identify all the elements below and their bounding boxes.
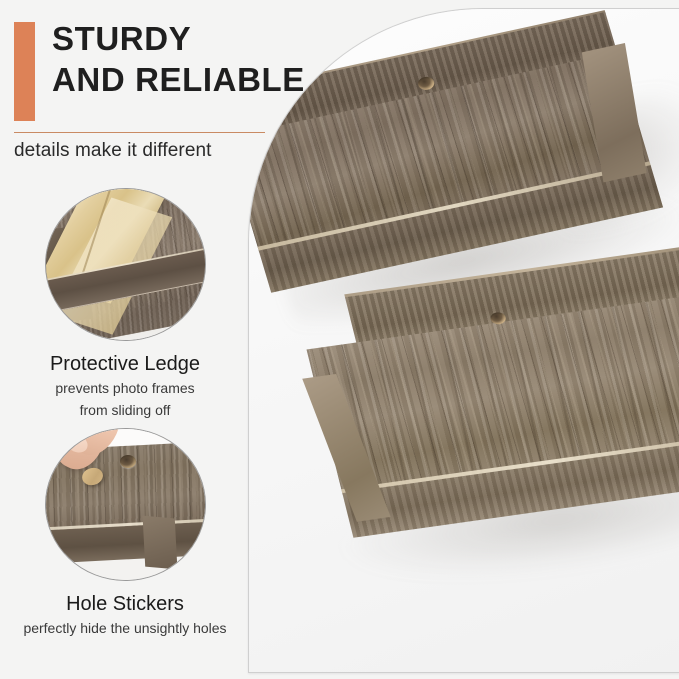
infographic-canvas: STURDY AND RELIABLE details make it diff… xyxy=(0,0,679,679)
feature-protective-ledge: Protective Ledge prevents photo frames f… xyxy=(0,188,250,420)
screw-hole xyxy=(120,455,136,468)
title-line-1: STURDY xyxy=(52,18,352,59)
feature-title: Protective Ledge xyxy=(0,352,250,376)
feature-desc-line-2: from sliding off xyxy=(0,401,250,420)
feature-hole-stickers: Hole Stickers perfectly hide the unsight… xyxy=(0,428,250,638)
ledge-end-cap xyxy=(143,515,178,569)
feature-title: Hole Stickers xyxy=(0,592,250,616)
product-panel xyxy=(248,8,679,673)
header-divider xyxy=(14,132,265,133)
hole-stickers-photo xyxy=(45,428,206,581)
protective-ledge-photo xyxy=(45,188,206,341)
feature-desc-line-1: prevents photo frames xyxy=(0,379,250,398)
accent-bar xyxy=(14,22,35,121)
product-panel-background xyxy=(249,9,679,672)
left-column: STURDY AND RELIABLE details make it diff… xyxy=(0,0,250,679)
feature-desc-line-1: perfectly hide the unsightly holes xyxy=(0,619,250,638)
